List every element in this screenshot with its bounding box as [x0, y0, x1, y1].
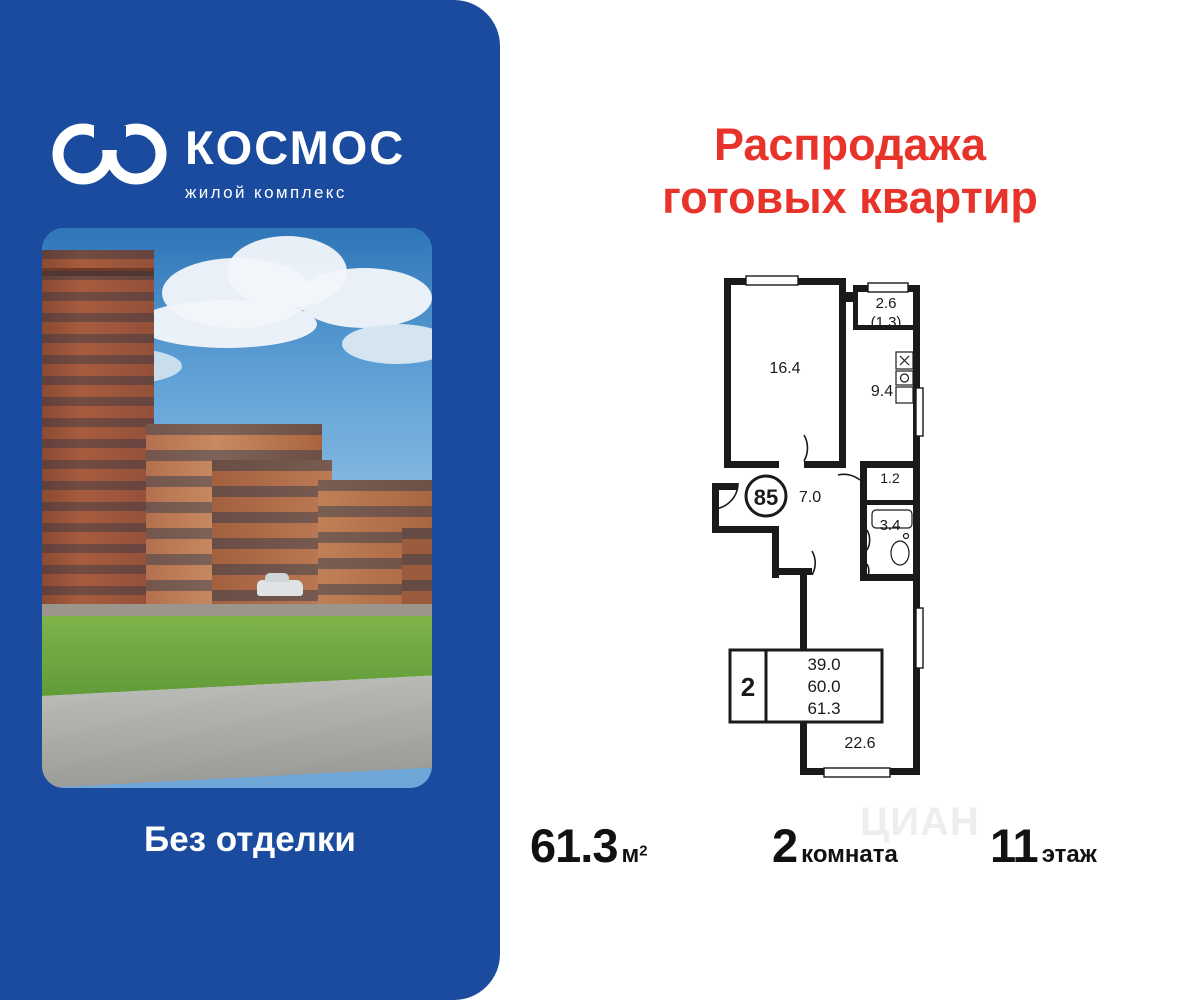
page-title: Распродажа готовых квартир: [520, 118, 1180, 224]
stat-area-unit-sup: 2: [639, 843, 647, 860]
stat-rooms: 2комната: [772, 818, 898, 873]
area-badge-line-1: 39.0: [807, 655, 840, 674]
stat-floor-value: 11: [990, 819, 1038, 872]
brand-text: КОСМОС жилой комплекс: [185, 124, 405, 203]
plan-doors: [714, 435, 870, 578]
areas-badge: 2 39.0 60.0 61.3: [730, 650, 882, 722]
room-label-wc: 1.2: [880, 470, 900, 486]
headline-line-1: Распродажа: [520, 118, 1180, 171]
car-icon: [257, 580, 303, 596]
cloud-icon: [297, 268, 432, 328]
area-badge-line-3: 61.3: [807, 699, 840, 718]
brand-logo: КОСМОС жилой комплекс: [50, 112, 450, 222]
room-label-bathroom: 3.4: [880, 517, 901, 534]
stat-area: 61.3м2: [530, 818, 648, 873]
infinity-loop-icon: [50, 118, 170, 190]
poster-page: КОСМОС жилой комплекс: [0, 0, 1200, 1000]
floor-plan-svg: 85 2 39.0 60.0 61.3 2.6 (1.3) 16.4 9.4 7…: [700, 268, 960, 788]
apartment-number-badge: 85: [746, 476, 786, 516]
photo-road: [42, 676, 432, 788]
left-blue-panel: КОСМОС жилой комплекс: [0, 0, 500, 1000]
room-label-bedroom: 16.4: [769, 360, 800, 377]
cloud-icon: [137, 300, 317, 348]
stat-rooms-value: 2: [772, 819, 797, 872]
stat-area-value: 61.3: [530, 819, 617, 872]
room-label-balcony-reduced: (1.3): [871, 314, 902, 331]
stat-floor-label: этаж: [1042, 841, 1097, 868]
headline-line-2: готовых квартир: [520, 171, 1180, 224]
stat-floor: 11этаж: [990, 818, 1097, 873]
room-label-balcony: 2.6: [876, 295, 897, 312]
room-label-hall: 7.0: [799, 489, 821, 506]
room-label-kitchen: 9.4: [871, 383, 893, 400]
brand-title: КОСМОС: [185, 124, 405, 171]
apartment-number: 85: [754, 485, 778, 510]
room-label-living-room: 22.6: [844, 735, 875, 752]
building-photo: [42, 228, 432, 788]
finish-caption: Без отделки: [0, 820, 500, 860]
brand-subtitle: жилой комплекс: [185, 183, 405, 203]
rooms-badge-value: 2: [741, 672, 755, 702]
stat-rooms-label: комната: [801, 841, 898, 868]
area-badge-line-2: 60.0: [807, 677, 840, 696]
summary-stats: 61.3м2 2комната 11этаж: [500, 812, 1200, 892]
stat-area-unit: м: [621, 841, 639, 868]
floor-plan: 85 2 39.0 60.0 61.3 2.6 (1.3) 16.4 9.4 7…: [700, 268, 960, 788]
